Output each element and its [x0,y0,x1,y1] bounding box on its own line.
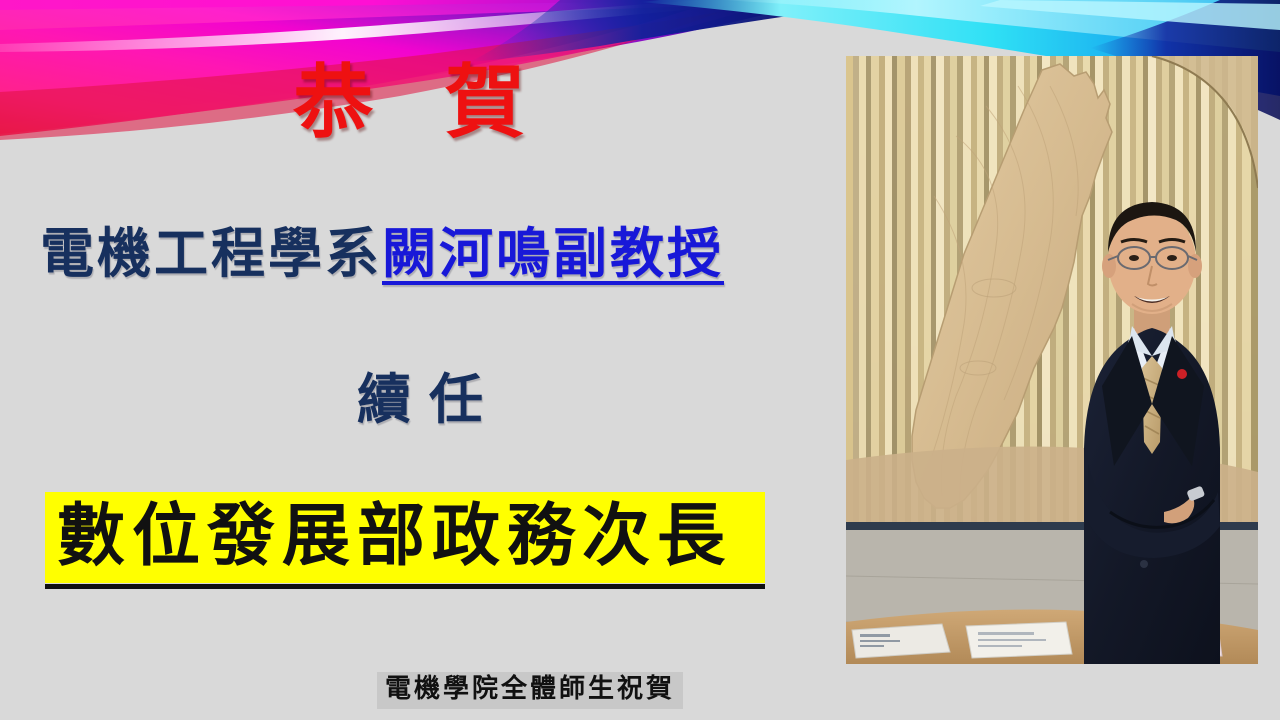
slide-canvas: 恭 賀 電機工程學系闕河鳴副教授 續任 數位發展部政務次長 電機學院全體師生祝賀 [0,0,1280,720]
honoree-line: 電機工程學系闕河鳴副教授 [40,222,724,284]
honoree-photo [846,56,1258,664]
eye-left [1129,255,1139,261]
lapel-pin [1177,369,1187,379]
action-word: 續任 [0,355,840,434]
person-figure [1084,202,1220,664]
department-name: 電機工程學系 [40,221,382,285]
footer-credit-text: 電機學院全體師生祝賀 [377,672,683,709]
photo-content [846,56,1258,664]
honoree-name: 闕河鳴副教授 [382,221,724,285]
position-underline [45,584,765,589]
eye-right [1167,255,1177,261]
footer-credit: 電機學院全體師生祝賀 [0,672,1060,709]
page-title: 恭 賀 [0,62,840,142]
position-title: 數位發展部政務次長 [45,492,765,583]
position-highlight-block: 數位發展部政務次長 [45,492,765,589]
photo-illustration [846,56,1258,664]
jacket-button [1140,560,1148,568]
